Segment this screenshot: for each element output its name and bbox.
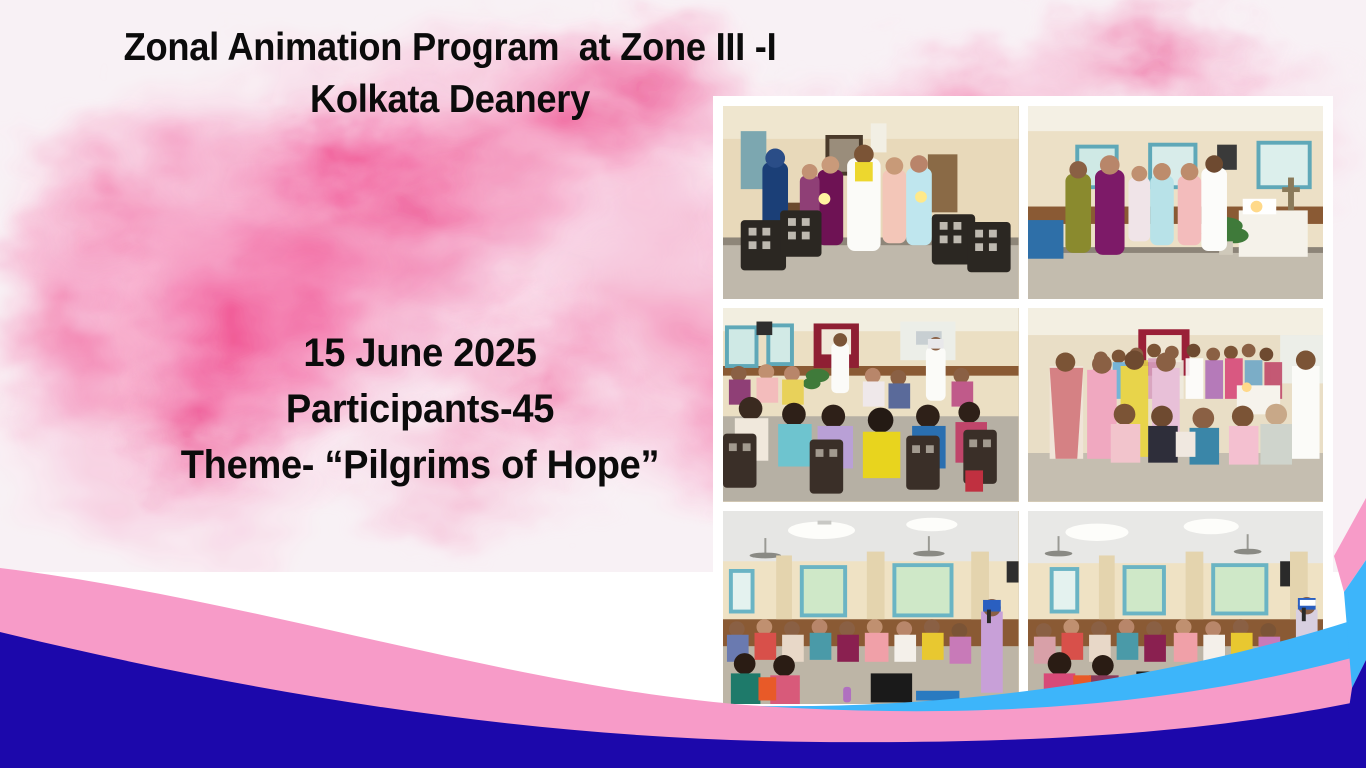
photo-collage <box>713 96 1333 714</box>
photo-2 <box>1028 106 1324 299</box>
photo-1 <box>723 106 1019 299</box>
photo-5 <box>723 511 1019 704</box>
participants-count-label: Participants-45 <box>21 381 819 437</box>
photo-4 <box>1028 308 1324 501</box>
photo-3 <box>723 308 1019 501</box>
presentation-slide: Zonal Animation Program at Zone III -I K… <box>0 0 1366 768</box>
theme-label: Theme- “Pilgrims of Hope” <box>21 437 819 493</box>
photo-6 <box>1028 511 1324 704</box>
event-date: 15 June 2025 <box>21 325 819 381</box>
title-line-1: Zonal Animation Program at Zone III -I <box>32 22 869 74</box>
